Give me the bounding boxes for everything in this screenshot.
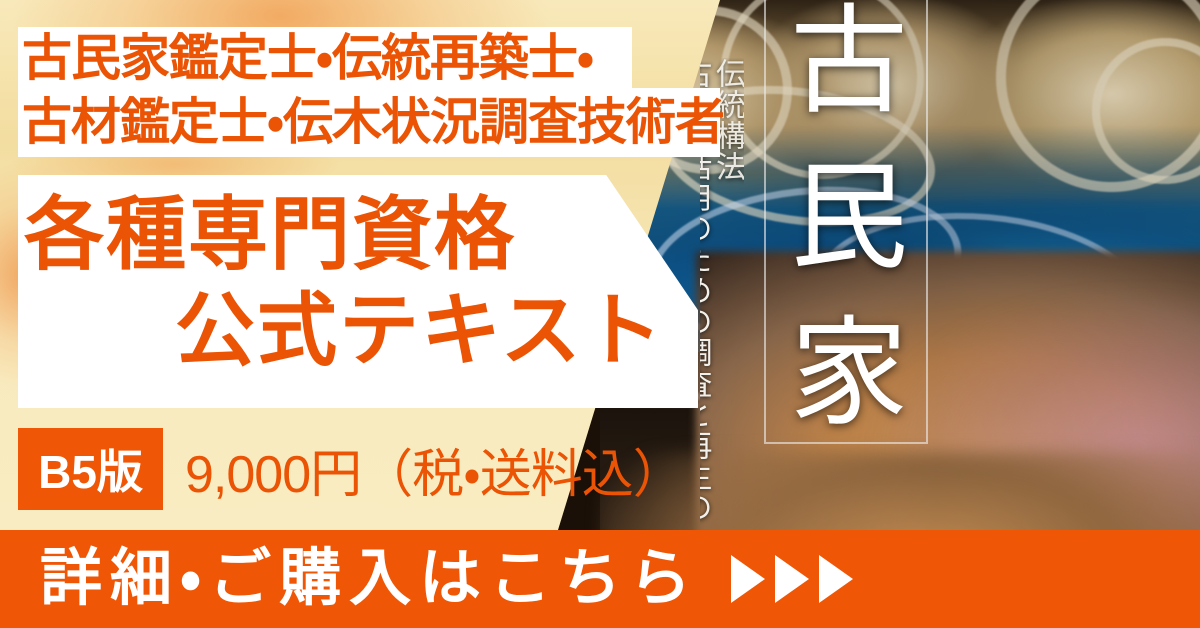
price-row: B5版 9,000円（税・送料込） [18, 428, 684, 510]
cta-inner[interactable]: 詳細・ご購入はこちら [40, 548, 853, 610]
book-title-char-2: 民 [790, 160, 908, 278]
cta-bar[interactable]: 詳細・ご購入はこちら [0, 530, 1200, 628]
format-badge-b5: B5版 [18, 428, 163, 510]
chevron-right-icon [775, 555, 809, 603]
chevron-right-icon [819, 555, 853, 603]
book-cover-title: 古 民 家 [784, 4, 914, 434]
main-headline-line-2: 公式テキスト [175, 283, 665, 379]
promo-banner: 古 民 家 伝統構法 古民家活用のための調査と再生の 古民家鑑定士・伝統再築士・… [0, 0, 1200, 628]
cta-label: 詳細・ご購入はこちら [40, 548, 699, 610]
qualification-list-line-2: 古材鑑定士・伝木状況調査技術者 [22, 90, 724, 154]
main-headline-line-1: 各種専門資格 [24, 187, 516, 283]
book-title-char-3: 家 [790, 316, 908, 434]
price-amount: 9,000円（税・送料込） [185, 432, 684, 507]
cta-arrow-group [731, 555, 853, 603]
qualification-list-line-1: 古民家鑑定士・伝統再築士・ [22, 28, 593, 88]
book-title-char-1: 古 [790, 4, 908, 122]
chevron-right-icon [731, 555, 765, 603]
